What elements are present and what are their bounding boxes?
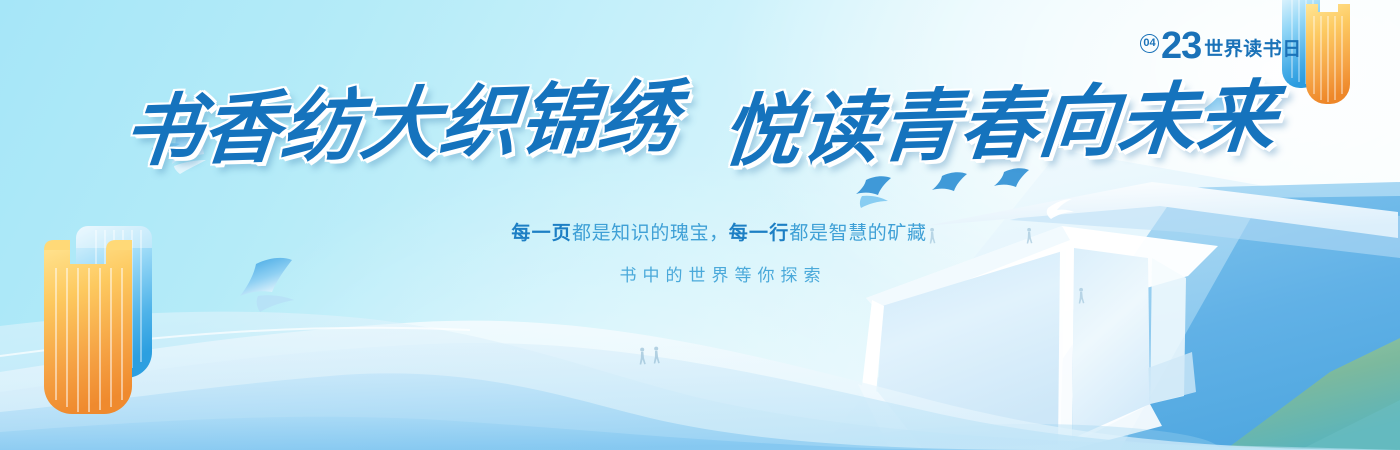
page-title: 书香纺大织锦绣 悦读青春向未来 (0, 86, 1400, 164)
badge-day: 23 (1161, 30, 1201, 62)
date-badge: 04 23 世界读书日 (1140, 30, 1302, 62)
subtitle-line-1: 每一页都是知识的瑰宝，每一行都是智慧的矿藏 (473, 222, 926, 246)
title-line-b: 悦读青春向未来 (718, 78, 1280, 171)
subtitle-emphasis-2: 每一行 (729, 223, 790, 244)
world-book-day-banner: 04 23 世界读书日 书香纺大织锦绣 悦读青春向未来 每一页都是知识的瑰宝，每… (0, 0, 1400, 450)
subtitle-text-2: 都是智慧的矿藏 (789, 223, 926, 244)
subtitle-block: 每一页都是知识的瑰宝，每一行都是智慧的矿藏 书中的世界等你探索 (0, 222, 1400, 286)
subtitle-emphasis-1: 每一页 (511, 223, 572, 244)
title-line-a: 书香纺大织锦绣 (119, 78, 681, 171)
badge-label: 世界读书日 (1204, 40, 1302, 59)
subtitle-line-2: 书中的世界等你探索 (574, 261, 827, 286)
subtitle-text-1: 都是知识的瑰宝， (572, 223, 729, 244)
badge-month: 04 (1140, 34, 1159, 53)
